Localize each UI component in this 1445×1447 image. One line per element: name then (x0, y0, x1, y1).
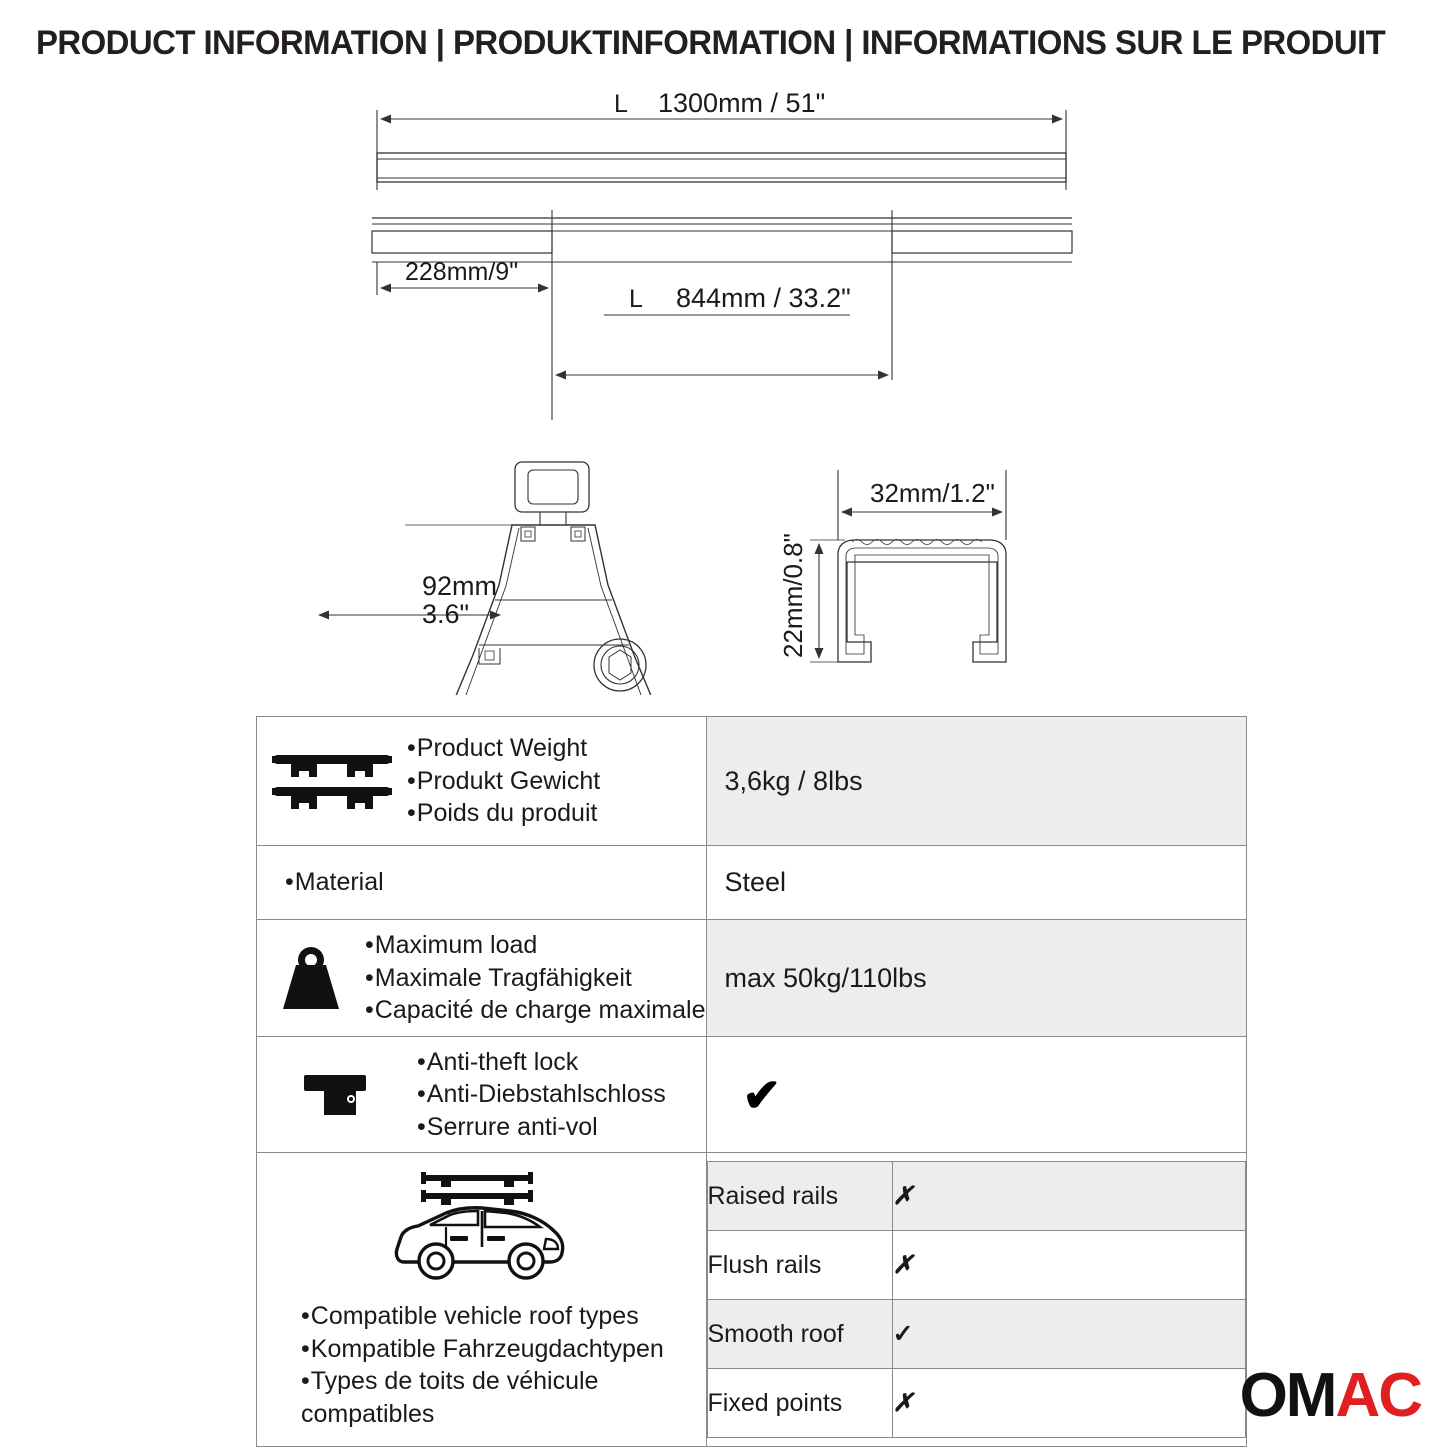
roof-type-row: Fixed points ✗ (707, 1369, 1246, 1438)
roof-types-subtable-cell: Raised rails ✗ Flush rails ✗ Smooth roof… (706, 1153, 1247, 1447)
label-line: Compatible vehicle roof types (301, 1300, 706, 1333)
label-line: Material (257, 868, 706, 897)
profile-height-value: 22mm/0.8" (778, 533, 808, 658)
weight-icon (257, 943, 365, 1013)
foot-height-line1: 92mm (422, 571, 497, 601)
label-line: compatibles (301, 1398, 706, 1431)
roof-type-support: ✗ (892, 1369, 1246, 1438)
label-line: Capacité de charge maximale (365, 994, 706, 1027)
foot-offset-value: 228mm/9" (405, 258, 518, 286)
row-label-material: Material (257, 846, 707, 920)
bar-length-value: 1300mm / 51" (658, 88, 825, 118)
profile-width-value: 32mm/1.2" (870, 478, 995, 508)
omac-logo: OMAC (1240, 1365, 1421, 1427)
row-label-product-weight: Product Weight Produkt Gewicht Poids du … (257, 717, 707, 846)
bar-length-prefix: L (614, 90, 628, 118)
label-line: Anti-Diebstahlschloss (417, 1078, 706, 1111)
label-line: Product Weight (407, 732, 706, 765)
page-title: PRODUCT INFORMATION | PRODUKTINFORMATION… (36, 24, 1354, 63)
span-prefix: L (629, 285, 643, 313)
label-line: Produkt Gewicht (407, 765, 706, 798)
row-label-roof-types: Compatible vehicle roof types Kompatible… (257, 1153, 707, 1447)
car-with-rack-icon (257, 1167, 706, 1294)
logo-dark-text: OM (1240, 1361, 1336, 1430)
technical-drawing: L 1300mm / 51" 228mm/9" L 844mm / 33.2" … (0, 70, 1445, 695)
roof-type-name: Fixed points (707, 1369, 892, 1438)
logo-accent-text: AC (1335, 1361, 1421, 1430)
table-row: Material Steel (257, 846, 1247, 920)
roof-type-name: Flush rails (707, 1231, 892, 1300)
roof-type-support: ✓ (892, 1300, 1246, 1369)
lock-icon (257, 1069, 417, 1121)
label-line: Types de toits de véhicule (301, 1365, 706, 1398)
label-line: Poids du produit (407, 797, 706, 830)
roof-type-row: Smooth roof ✓ (707, 1300, 1246, 1369)
label-line: Kompatible Fahrzeugdachtypen (301, 1333, 706, 1366)
row-value-anti-theft-lock: ✔ (706, 1037, 1247, 1153)
table-row: Maximum load Maximale Tragfähigkeit Capa… (257, 920, 1247, 1037)
table-row-roof-types: Compatible vehicle roof types Kompatible… (257, 1153, 1247, 1447)
specification-table: Product Weight Produkt Gewicht Poids du … (256, 716, 1247, 1447)
roof-type-row: Raised rails ✗ (707, 1162, 1246, 1231)
row-label-anti-theft-lock: Anti-theft lock Anti-Diebstahlschloss Se… (257, 1037, 707, 1153)
foot-height-line2: 3.6" (422, 599, 469, 629)
table-row: Product Weight Produkt Gewicht Poids du … (257, 717, 1247, 846)
roof-type-row: Flush rails ✗ (707, 1231, 1246, 1300)
roof-type-name: Smooth roof (707, 1300, 892, 1369)
label-line: Anti-theft lock (417, 1046, 706, 1079)
label-line: Maximum load (365, 929, 706, 962)
crossbars-icon (257, 749, 407, 813)
roof-type-support: ✗ (892, 1162, 1246, 1231)
checkmark-icon: ✔ (725, 1072, 1247, 1118)
row-value-maximum-load: max 50kg/110lbs (706, 920, 1247, 1037)
row-label-maximum-load: Maximum load Maximale Tragfähigkeit Capa… (257, 920, 707, 1037)
label-line: Maximale Tragfähigkeit (365, 962, 706, 995)
label-line: Serrure anti-vol (417, 1111, 706, 1144)
roof-types-table: Raised rails ✗ Flush rails ✗ Smooth roof… (707, 1161, 1247, 1438)
roof-type-support: ✗ (892, 1231, 1246, 1300)
row-value-product-weight: 3,6kg / 8lbs (706, 717, 1247, 846)
row-value-material: Steel (706, 846, 1247, 920)
roof-type-name: Raised rails (707, 1162, 892, 1231)
table-row: Anti-theft lock Anti-Diebstahlschloss Se… (257, 1037, 1247, 1153)
span-value: 844mm / 33.2" (676, 283, 851, 313)
